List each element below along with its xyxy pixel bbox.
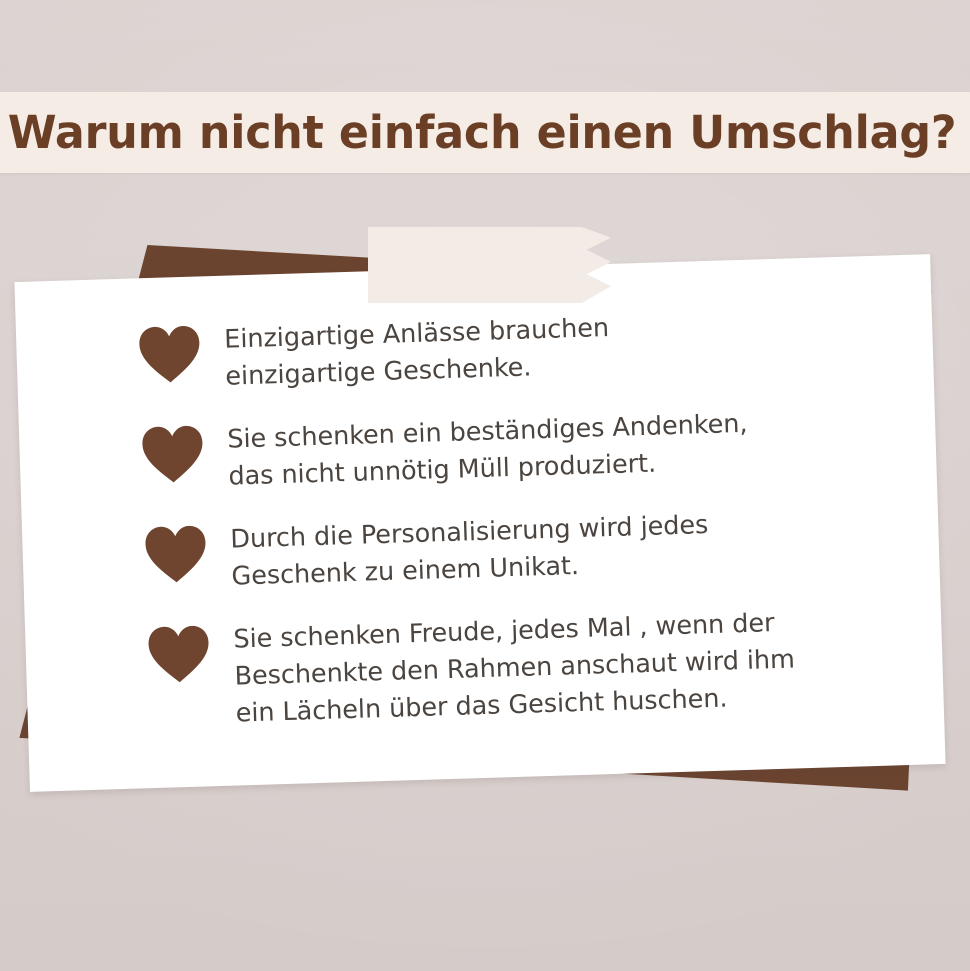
list-item: Sie schenken ein beständiges Andenken, d… (141, 401, 897, 498)
list-item: Durch die Personalisierung wird jedes Ge… (144, 501, 900, 598)
heart-icon (144, 524, 208, 584)
list-item-label: Durch die Personalisierung wird jedes Ge… (230, 507, 710, 596)
list-item-label: Einzigartige Anlässe brauchen einzigarti… (224, 310, 611, 396)
heart-icon (141, 424, 205, 484)
page-title: Warum nicht einfach einen Umschlag? (0, 110, 956, 155)
list-item-label: Sie schenken Freude, jedes Mal , wenn de… (233, 604, 797, 732)
list-item: Einzigartige Anlässe brauchen einzigarti… (138, 301, 894, 398)
list-item-label: Sie schenken ein beständiges Andenken, d… (227, 406, 749, 496)
benefit-list: Einzigartige Anlässe brauchen einzigarti… (14, 254, 945, 792)
heart-icon (147, 624, 211, 684)
heart-icon (138, 324, 202, 384)
list-item: Sie schenken Freude, jedes Mal , wenn de… (147, 601, 904, 735)
poster-canvas: Warum nicht einfach einen Umschlag? Einz… (0, 0, 970, 971)
headline-banner: Warum nicht einfach einen Umschlag? (0, 92, 970, 173)
